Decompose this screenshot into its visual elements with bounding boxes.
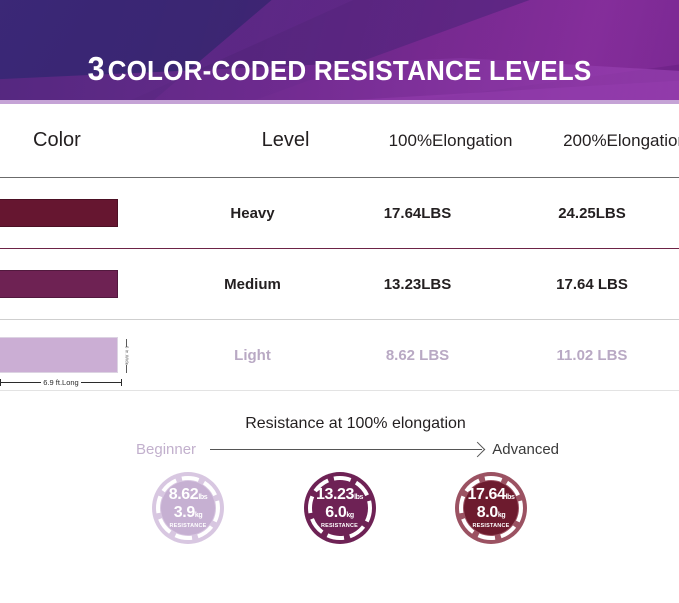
resistance-chart: Resistance at 100% elongation Beginner A… (0, 415, 679, 580)
color-swatch-medium (0, 270, 118, 298)
dial-medium-kg-unit: kg (346, 512, 353, 519)
header-banner: 3COLOR-CODED RESISTANCE LEVELS (0, 0, 679, 104)
scale-label-beginner: Beginner (136, 441, 196, 458)
light-100-elongation: 8.62 LBS (330, 347, 505, 364)
dial-light-kg-unit: kg (195, 512, 202, 519)
dial-heavy-lbs-unit: lbs (506, 494, 515, 501)
chart-title: Resistance at 100% elongation (32, 415, 679, 433)
dial-heavy-caption: RESISTANCE (472, 524, 509, 530)
dial-heavy-lbs-value: 17.64 (468, 486, 506, 503)
light-200-elongation: 11.02 LBS (505, 347, 679, 364)
title-count: 3 (88, 50, 105, 87)
difficulty-scale: Beginner Advanced (0, 441, 679, 458)
dial-heavy-kg-value: 8.0 (477, 504, 498, 521)
scale-label-advanced: Advanced (492, 441, 559, 458)
level-medium: Medium (175, 276, 330, 293)
dial-light-readout: 8.62lbs 3.9kg RESISTANCE (159, 479, 217, 537)
dial-light-lbs-unit: lbs (198, 494, 207, 501)
dimension-line-left (0, 382, 41, 383)
dial-light-kg: 3.9kg (174, 505, 202, 521)
dial-light-lbs: 8.62lbs (169, 487, 207, 503)
resistance-table: Color Level 100%Elongation 200%Elongatio… (0, 104, 679, 391)
dial-medium-lbs-value: 13.23 (316, 486, 354, 503)
dial-light-caption: RESISTANCE (169, 524, 206, 530)
dimension-width-label: 6 in.Wide (121, 339, 133, 373)
dial-medium-kg: 6.0kg (325, 505, 353, 521)
table-row: Medium 13.23LBS 17.64 LBS (0, 249, 679, 320)
dial-heavy-kg: 8.0kg (477, 505, 505, 521)
column-header-200-elongation: 200%Elongation (538, 131, 679, 151)
table-row: 6 in.Wide 6.9 ft.Long Light 8.62 LBS 11.… (0, 320, 679, 391)
dial-medium-lbs-unit: lbs (354, 494, 363, 501)
color-swatch-heavy (0, 199, 118, 227)
dial-light-kg-value: 3.9 (174, 504, 195, 521)
dial-medium-readout: 13.23lbs 6.0kg RESISTANCE (311, 479, 369, 537)
medium-100-elongation: 13.23LBS (330, 276, 505, 293)
column-header-color: Color (0, 129, 208, 152)
dimension-length-label: 6.9 ft.Long (41, 378, 80, 387)
dial-heavy: 17.64lbs 8.0kg RESISTANCE (453, 470, 529, 546)
dial-medium-lbs: 13.23lbs (316, 487, 363, 503)
table-row: Heavy 17.64LBS 24.25LBS (0, 178, 679, 249)
level-light: Light (175, 347, 330, 364)
dial-heavy-readout: 17.64lbs 8.0kg RESISTANCE (462, 479, 520, 537)
swatch-wrap-light: 6 in.Wide 6.9 ft.Long (0, 337, 118, 373)
swatch-wrap-heavy (0, 199, 118, 227)
dial-heavy-lbs: 17.64lbs (468, 487, 515, 503)
dimension-line-right (81, 382, 122, 383)
column-header-100-elongation: 100%Elongation (363, 131, 538, 151)
level-heavy: Heavy (175, 205, 330, 222)
title-text: COLOR-CODED RESISTANCE LEVELS (108, 55, 592, 86)
arrow-right-icon (210, 449, 482, 450)
heavy-200-elongation: 24.25LBS (505, 205, 679, 222)
dial-medium-kg-value: 6.0 (325, 504, 346, 521)
column-header-level: Level (208, 129, 363, 152)
dial-medium-caption: RESISTANCE (321, 524, 358, 530)
dial-medium: 13.23lbs 6.0kg RESISTANCE (302, 470, 378, 546)
table-header-row: Color Level 100%Elongation 200%Elongatio… (0, 104, 679, 178)
dial-light-lbs-value: 8.62 (169, 486, 199, 503)
dial-group: 8.62lbs 3.9kg RESISTANCE 13.23lbs 6.0kg … (0, 458, 679, 546)
medium-200-elongation: 17.64 LBS (505, 276, 679, 293)
swatch-wrap-medium (0, 270, 118, 298)
page-title: 3COLOR-CODED RESISTANCE LEVELS (24, 50, 655, 88)
color-swatch-light (0, 337, 118, 373)
dial-light: 8.62lbs 3.9kg RESISTANCE (150, 470, 226, 546)
dial-heavy-kg-unit: kg (498, 512, 505, 519)
heavy-100-elongation: 17.64LBS (330, 205, 505, 222)
dimension-length: 6.9 ft.Long (0, 378, 122, 387)
